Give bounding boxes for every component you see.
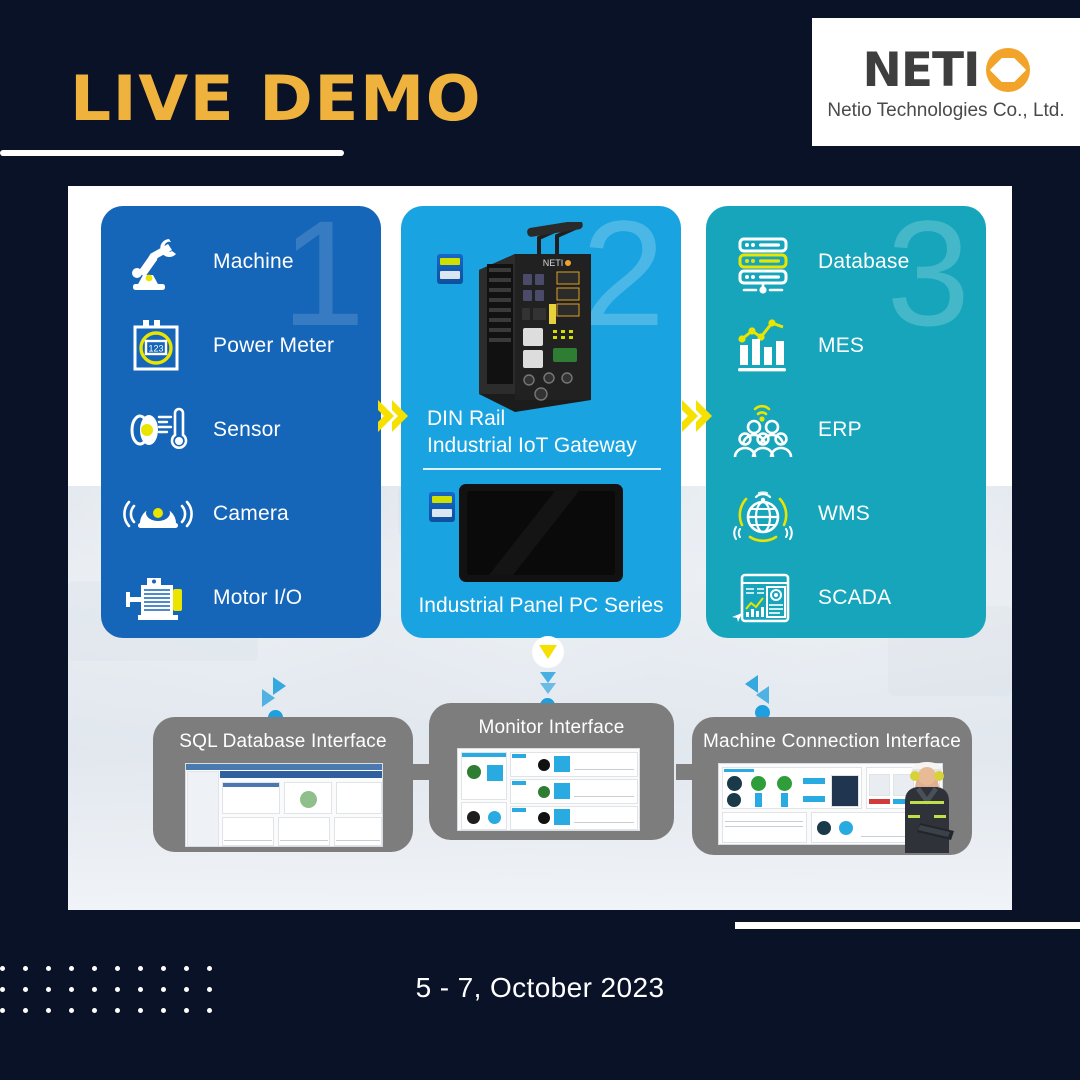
list-item[interactable]: Motor I/O — [101, 556, 381, 638]
grid-dot — [115, 987, 120, 992]
flow-down-arrow-icon — [532, 636, 564, 668]
panels-row: 1 — [68, 186, 1012, 652]
grid-dot — [184, 966, 189, 971]
grid-dot — [207, 966, 212, 971]
grid-dot — [184, 987, 189, 992]
intel-celeron-badge — [429, 492, 455, 522]
chevron-right-icon — [262, 689, 275, 707]
machine-connection-interface-label: Machine Connection Interface — [692, 731, 972, 753]
list-item-label: Sensor — [213, 418, 281, 442]
logo-wordmark-row: NETI — [863, 47, 1030, 94]
panel-systems: 3 — [706, 206, 986, 638]
grid-dot — [69, 1008, 74, 1013]
list-item[interactable]: Database — [706, 220, 986, 304]
panel-gateway: 2 — [401, 206, 681, 638]
svg-text:123: 123 — [148, 343, 163, 353]
netio-orange-circle-icon — [986, 48, 1030, 92]
grid-dot — [92, 966, 97, 971]
monitor-interface-box[interactable]: Monitor Interface — [429, 703, 674, 840]
bar-chart-analytics-icon — [728, 313, 802, 379]
title-underline — [0, 150, 344, 156]
decorative-dot-grid — [0, 966, 215, 1028]
list-item-label: MES — [818, 334, 864, 358]
gateway-caption-line-1: DIN Rail — [427, 406, 677, 433]
gateway-caption: DIN Rail Industrial IoT Gateway — [427, 406, 677, 460]
grid-dot — [23, 966, 28, 971]
engineer-with-hardhat-and-tablet — [890, 757, 964, 853]
systems-list: Database — [706, 220, 986, 638]
list-item[interactable]: MES — [706, 304, 986, 388]
page-title: LIVE DEMO — [70, 68, 482, 130]
list-item[interactable]: WMS — [706, 472, 986, 556]
grid-dot — [115, 966, 120, 971]
diagram-canvas: 1 — [68, 186, 1012, 910]
monitor-dashboard-screenshot — [457, 748, 640, 831]
panel-divider — [423, 468, 661, 470]
list-item-label: ERP — [818, 418, 862, 442]
dome-camera-icon — [123, 481, 197, 547]
logo-wordmark: NETI — [863, 47, 980, 94]
list-item-label: Database — [818, 250, 910, 274]
grid-dot — [0, 1008, 5, 1013]
yellow-double-chevron-icon — [376, 396, 410, 436]
panel-pc-caption: Industrial Panel PC Series — [401, 594, 681, 618]
yellow-double-chevron-icon — [680, 396, 714, 436]
grid-dot — [92, 987, 97, 992]
grid-dot — [23, 987, 28, 992]
grid-dot — [0, 966, 5, 971]
machine-connection-interface-box[interactable]: Machine Connection Interface — [692, 717, 972, 855]
grid-dot — [0, 987, 5, 992]
grid-dot — [207, 987, 212, 992]
grid-dot — [69, 987, 74, 992]
list-item-label: Machine — [213, 250, 294, 274]
sql-database-interface-box[interactable]: SQL Database Interface — [153, 717, 413, 852]
sql-database-dashboard-screenshot — [185, 763, 383, 847]
din-rail-gateway-photo: NETI — [453, 222, 629, 414]
list-item-label: Power Meter — [213, 334, 334, 358]
grid-dot — [23, 1008, 28, 1013]
list-item[interactable]: Machine — [101, 220, 381, 304]
people-network-icon — [728, 397, 802, 463]
list-item[interactable]: ERP — [706, 388, 986, 472]
motor-io-icon — [123, 565, 197, 631]
grid-dot — [115, 1008, 120, 1013]
grid-dot — [46, 1008, 51, 1013]
list-item[interactable]: Camera — [101, 472, 381, 556]
netio-logo: NETI Netio Technologies Co., Ltd. — [812, 18, 1080, 146]
list-item[interactable]: Sensor — [101, 388, 381, 472]
industrial-panel-pc-photo — [459, 484, 623, 582]
sql-database-interface-label: SQL Database Interface — [153, 731, 413, 753]
logo-subtitle: Netio Technologies Co., Ltd. — [827, 100, 1064, 122]
globe-wireless-icon — [728, 481, 802, 547]
robot-arm-icon — [123, 229, 197, 295]
device-list: Machine 123 Power Meter — [101, 220, 381, 638]
grid-dot — [69, 966, 74, 971]
list-item[interactable]: 123 Power Meter — [101, 304, 381, 388]
grid-dot — [138, 987, 143, 992]
list-item-label: WMS — [818, 502, 870, 526]
list-item[interactable]: SCADA — [706, 556, 986, 638]
grid-dot — [46, 987, 51, 992]
grid-dot — [138, 1008, 143, 1013]
database-server-icon — [728, 229, 802, 295]
sensor-thermometer-icon — [123, 397, 197, 463]
grid-dot — [161, 966, 166, 971]
footer-accent-line — [735, 922, 1080, 929]
grid-dot — [161, 987, 166, 992]
header: LIVE DEMO NETI Netio Technologies Co., L… — [0, 0, 1080, 186]
svg-text:NETI: NETI — [543, 258, 564, 268]
grid-dot — [92, 1008, 97, 1013]
monitor-interface-label: Monitor Interface — [429, 717, 674, 739]
list-item-label: SCADA — [818, 586, 891, 610]
chevron-down-icon — [540, 672, 556, 683]
grid-dot — [207, 1008, 212, 1013]
power-meter-icon: 123 — [123, 313, 197, 379]
list-item-label: Motor I/O — [213, 586, 302, 610]
grid-dot — [138, 966, 143, 971]
chevron-down-icon — [540, 683, 556, 694]
chevron-left-icon — [756, 686, 769, 704]
scada-dashboard-icon — [728, 565, 802, 631]
grid-dot — [46, 966, 51, 971]
gateway-caption-line-2: Industrial IoT Gateway — [427, 433, 677, 460]
panel-devices: 1 — [101, 206, 381, 638]
grid-dot — [161, 1008, 166, 1013]
list-item-label: Camera — [213, 502, 289, 526]
grid-dot — [184, 1008, 189, 1013]
